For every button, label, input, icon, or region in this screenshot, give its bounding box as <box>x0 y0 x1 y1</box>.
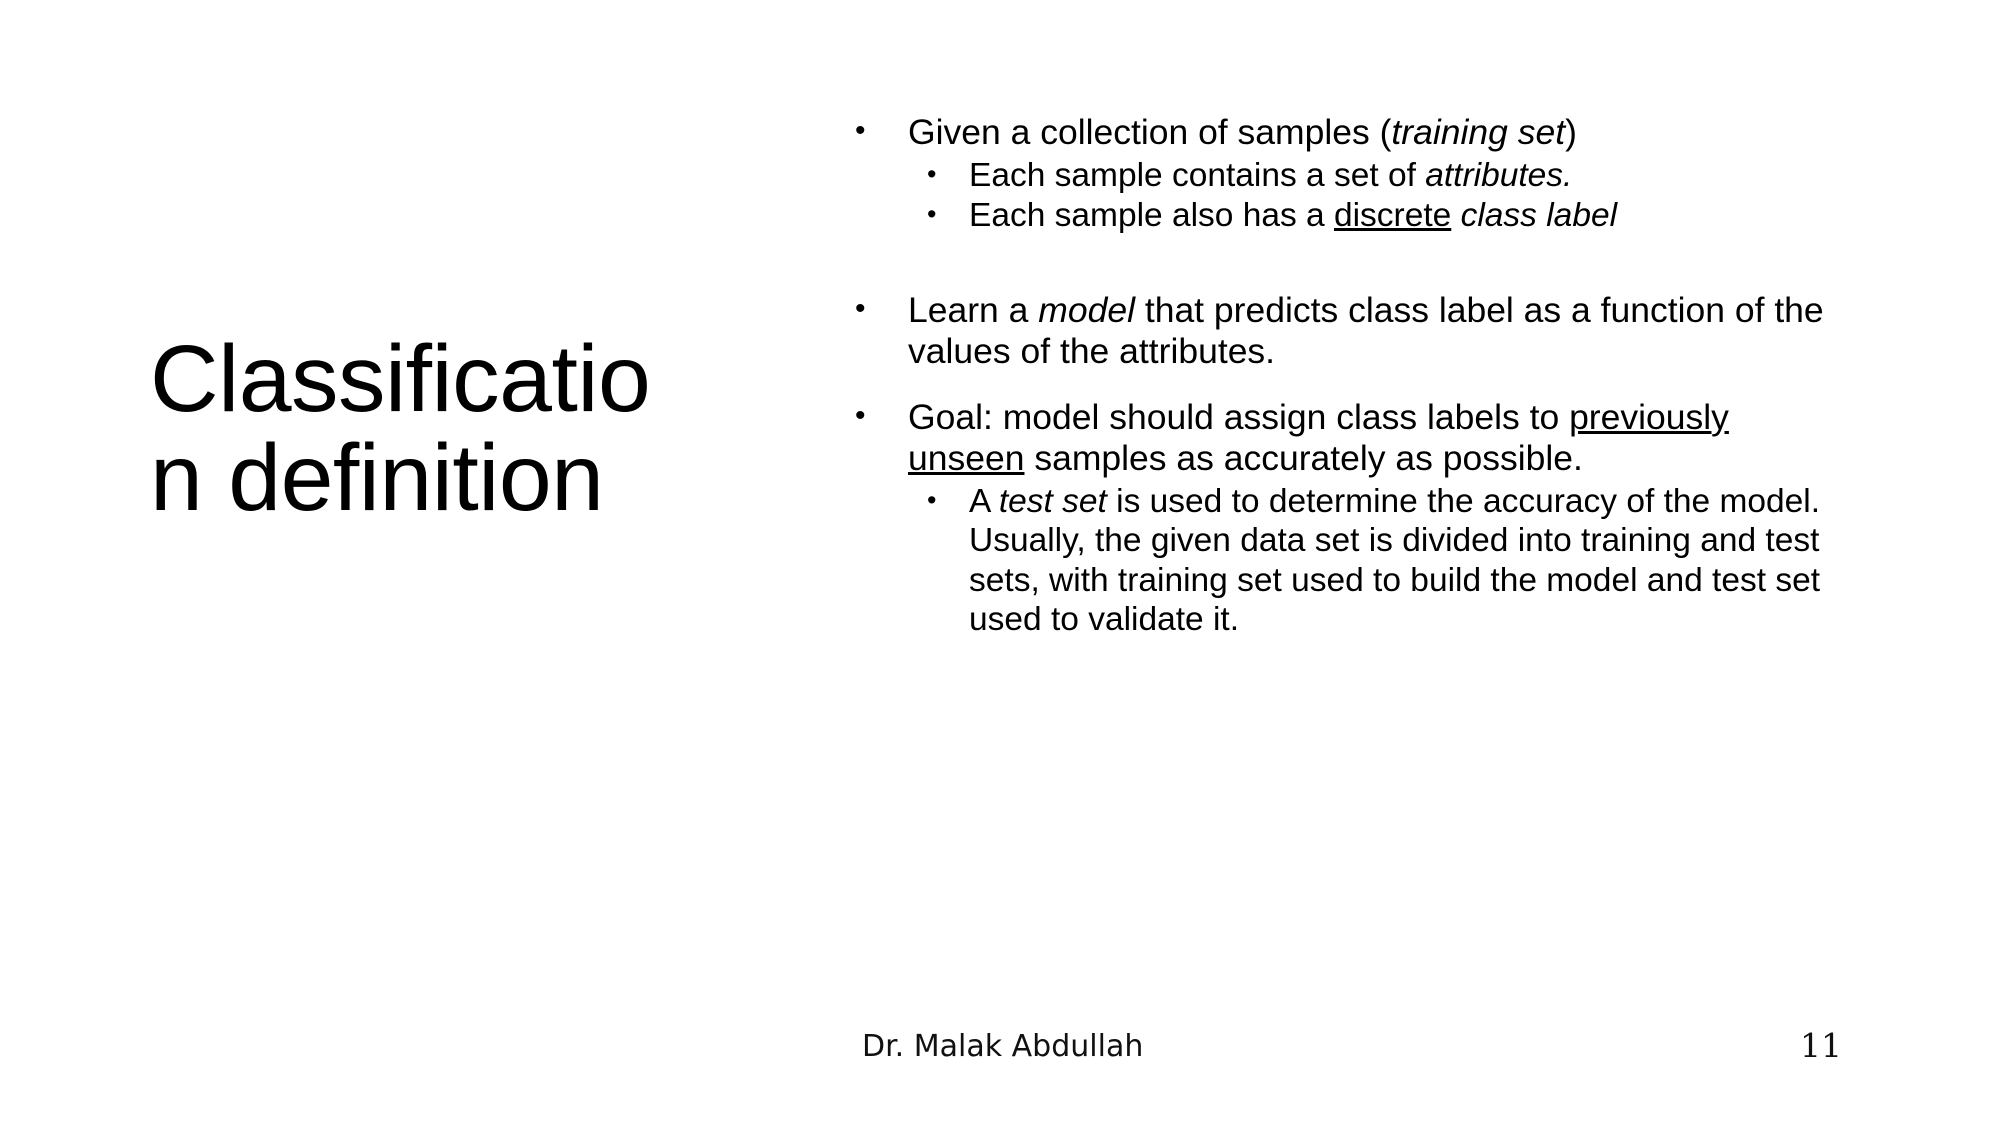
plain-text: Each sample contains a set of <box>969 157 1425 194</box>
bullet-text: A test set is used to determine the accu… <box>969 482 1855 640</box>
emphasis-text: class label <box>1461 197 1617 234</box>
body-content: • Given a collection of samples (trainin… <box>855 112 1855 641</box>
plain-text: samples as accurately as possible. <box>1024 438 1582 478</box>
bullet-item-5: • Goal: model should assign class labels… <box>855 397 1855 480</box>
bullet-item-4: • Learn a model that predicts class labe… <box>855 290 1855 373</box>
plain-text <box>1451 197 1460 234</box>
bullet-text: Learn a model that predicts class label … <box>908 290 1855 373</box>
bullet-item-3: • Each sample also has a discrete class … <box>855 196 1855 236</box>
emphasis-text: attributes. <box>1425 157 1572 194</box>
bullet-item-2: • Each sample contains a set of attribut… <box>855 156 1855 196</box>
bullet-marker-icon: • <box>927 156 969 188</box>
footer-author: Dr. Malak Abdullah <box>862 1030 1143 1063</box>
bullet-marker-icon: • <box>855 397 908 431</box>
paragraph-spacer <box>855 237 1855 290</box>
plain-text: Goal: model should assign class labels t… <box>908 397 1569 437</box>
slide: Classificatio n definition • Given a col… <box>0 0 2000 1125</box>
bullet-marker-icon: • <box>855 290 908 324</box>
bullet-marker-icon: • <box>855 112 908 146</box>
bullet-item-6: • A test set is used to determine the ac… <box>855 482 1855 640</box>
bullet-marker-icon: • <box>927 482 969 514</box>
page-number: 11 <box>1800 1028 1842 1064</box>
paragraph-spacer <box>855 375 1855 397</box>
plain-text: A <box>969 483 999 520</box>
emphasis-text: training set <box>1391 112 1565 152</box>
bullet-text: Given a collection of samples (training … <box>908 112 1855 154</box>
emphasis-text: model <box>1038 290 1135 330</box>
plain-text: Given a collection of samples ( <box>908 112 1391 152</box>
plain-text: Learn a <box>908 290 1038 330</box>
bullet-text: Each sample contains a set of attributes… <box>969 156 1855 196</box>
page-title-line-1: Classificatio <box>150 330 710 429</box>
emphasis-text: test set <box>999 483 1107 520</box>
plain-text: Each sample also has a <box>969 197 1334 234</box>
bullet-marker-icon: • <box>927 196 969 228</box>
page-title-line-2: n definition <box>150 429 710 528</box>
bullet-text: Each sample also has a discrete class la… <box>969 196 1855 236</box>
page-title: Classificatio n definition <box>150 330 710 528</box>
plain-text: ) <box>1565 112 1577 152</box>
bullet-item-1: • Given a collection of samples (trainin… <box>855 112 1855 154</box>
bullet-text: Goal: model should assign class labels t… <box>908 397 1855 480</box>
underlined-text: discrete <box>1334 197 1451 234</box>
